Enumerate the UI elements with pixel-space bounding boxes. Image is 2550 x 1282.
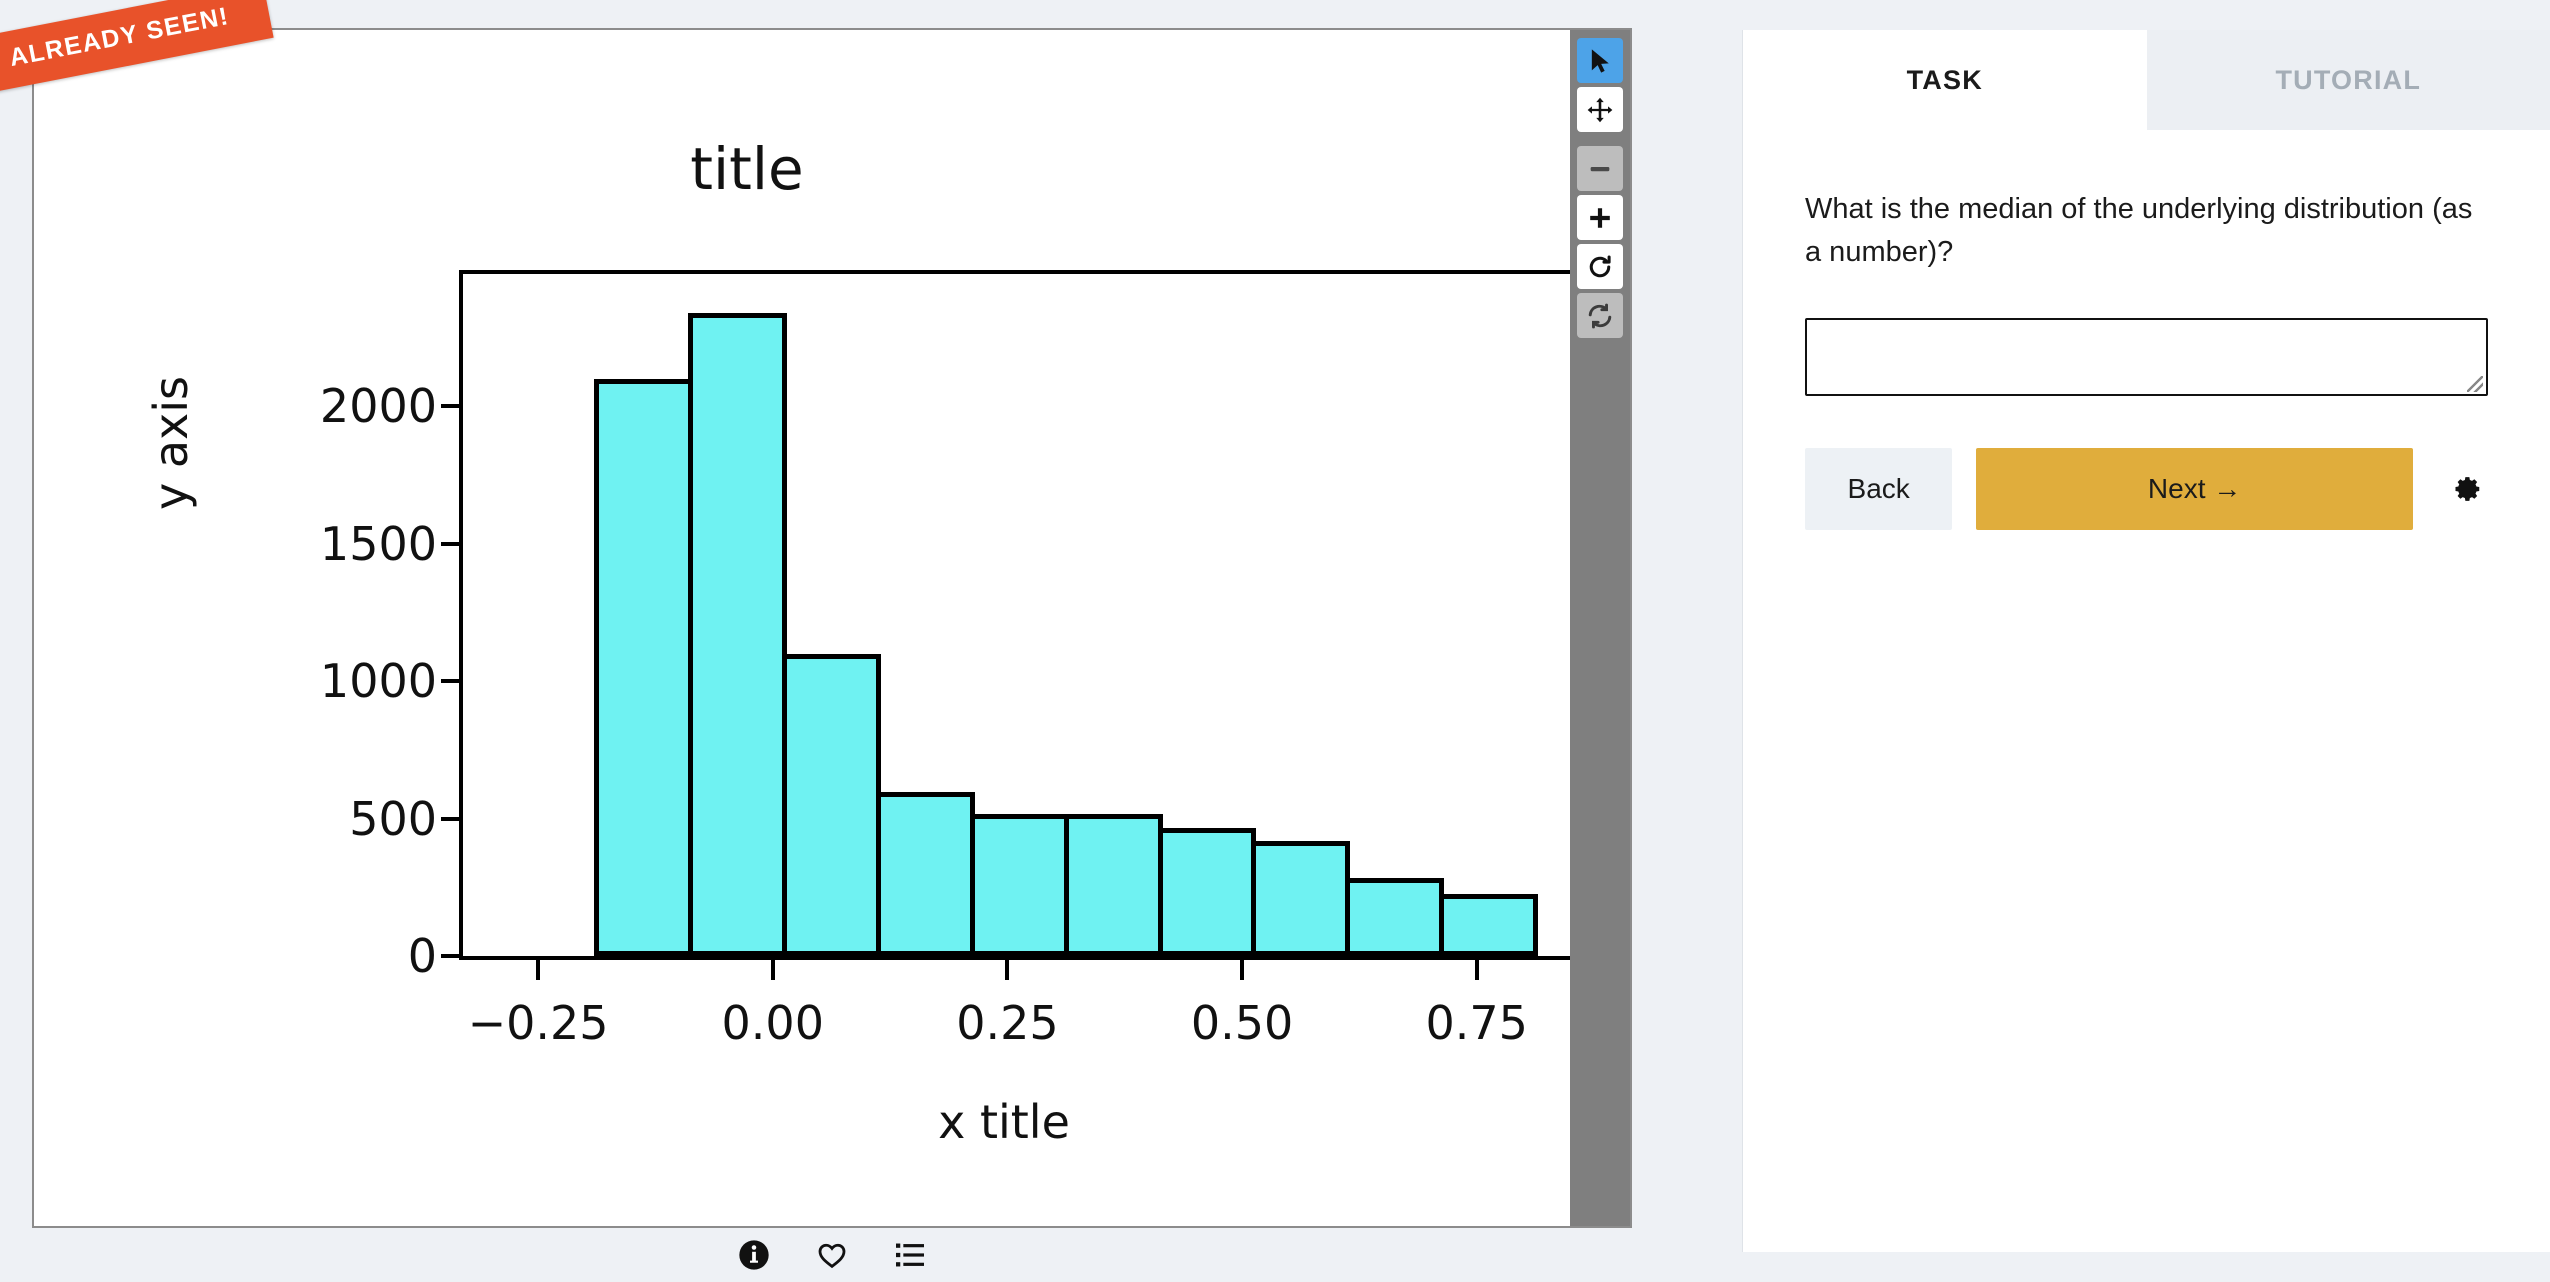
bar (970, 814, 1069, 956)
y-tick-mark (441, 404, 463, 408)
figure-pane: ALREADY SEEN! title y axis x title 05001… (0, 0, 1700, 1282)
x-tick-label: −0.25 (468, 996, 609, 1050)
tab-bar: TASK TUTORIAL (1743, 30, 2550, 130)
bar (594, 379, 693, 957)
bar (1158, 828, 1257, 956)
y-tick-label: 0 (133, 929, 463, 983)
figure-canvas[interactable]: title y axis x title 0500100015002000−0.… (34, 30, 1630, 1226)
tab-tutorial[interactable]: TUTORIAL (2147, 30, 2550, 130)
axes-box: 0500100015002000−0.250.000.250.500.75 (459, 270, 1584, 960)
y-tick-mark (441, 679, 463, 683)
y-tick-mark (441, 817, 463, 821)
bar (688, 313, 787, 957)
figure-footer (32, 1238, 1632, 1272)
x-axis-label: x title (454, 1095, 1554, 1149)
y-tick-mark (441, 542, 463, 546)
x-tick-mark (536, 956, 540, 980)
x-tick-label: 0.75 (1426, 996, 1528, 1050)
x-tick-label: 0.50 (1191, 996, 1293, 1050)
task-panel: TASK TUTORIAL What is the median of the … (1742, 30, 2550, 1252)
pointer-icon[interactable] (1577, 38, 1623, 83)
bar (1251, 841, 1350, 957)
x-tick-mark (1475, 956, 1479, 980)
gear-icon[interactable] (2449, 468, 2488, 510)
bar (1064, 814, 1163, 956)
pan-icon[interactable] (1577, 87, 1623, 132)
x-tick-label: 0.25 (956, 996, 1058, 1050)
info-icon[interactable] (737, 1238, 771, 1272)
y-tick-label: 1500 (133, 517, 463, 571)
answer-input[interactable] (1807, 320, 2486, 394)
answer-input-wrapper[interactable] (1805, 318, 2488, 396)
heart-icon[interactable] (815, 1238, 849, 1272)
bar-series (463, 274, 1580, 956)
bar (876, 792, 975, 956)
x-tick-mark (1005, 956, 1009, 980)
y-tick-label: 500 (133, 792, 463, 846)
plot-area: title y axis x title 0500100015002000−0.… (34, 30, 1630, 1226)
figure-frame: title y axis x title 0500100015002000−0.… (32, 28, 1632, 1228)
bar (782, 654, 881, 957)
figure-toolbar (1570, 30, 1630, 1226)
zoom-in-icon[interactable] (1577, 195, 1623, 240)
y-tick-label: 2000 (133, 379, 463, 433)
x-tick-mark (771, 956, 775, 980)
list-icon[interactable] (893, 1238, 927, 1272)
reset-icon[interactable] (1577, 244, 1623, 289)
app-root: ALREADY SEEN! title y axis x title 05001… (0, 0, 2550, 1282)
x-tick-label: 0.00 (722, 996, 824, 1050)
bar (1345, 878, 1444, 956)
tab-task[interactable]: TASK (1743, 30, 2147, 130)
chart-title: title (34, 135, 1460, 203)
back-button[interactable]: Back (1805, 448, 1952, 530)
y-tick-label: 1000 (133, 654, 463, 708)
navigation-buttons: Back Next → (1805, 448, 2488, 530)
x-tick-mark (1240, 956, 1244, 980)
next-button[interactable]: Next → (1976, 448, 2412, 530)
zoom-out-icon[interactable] (1577, 146, 1623, 191)
refresh-icon[interactable] (1577, 293, 1623, 338)
y-tick-mark (441, 954, 463, 958)
question-text: What is the median of the underlying dis… (1805, 188, 2488, 274)
bar (1439, 894, 1538, 956)
